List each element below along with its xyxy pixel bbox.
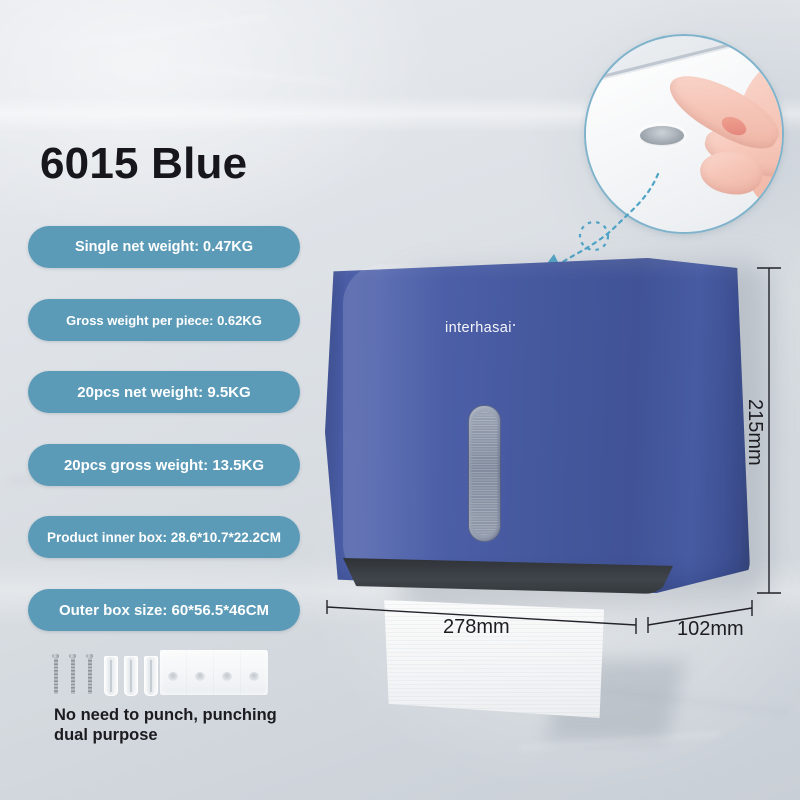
- marble-vein: [180, 66, 339, 85]
- marble-vein: [61, 15, 269, 46]
- paper-level-window: [468, 405, 501, 542]
- dispenser-body: [325, 258, 750, 593]
- dimension-label-width: 278mm: [443, 616, 510, 639]
- product-image-canvas: 6015 Blue Single net weight: 0.47KG Gros…: [0, 0, 800, 800]
- adhesive-pad-icon: [214, 650, 240, 695]
- mounting-hardware-group: [52, 648, 267, 696]
- dimension-label-height: 215mm: [743, 399, 766, 466]
- wall-anchor-icon: [144, 656, 158, 696]
- spec-pill-label: 20pcs gross weight: 13.5KG: [64, 457, 264, 474]
- spec-pill-gross-weight-per-piece: Gross weight per piece: 0.62KG: [28, 299, 300, 341]
- brand-logo: interhasai: [445, 320, 515, 336]
- wall-anchor-icon: [124, 656, 138, 696]
- spec-pill-single-net-weight: Single net weight: 0.47KG: [28, 226, 300, 268]
- adhesive-pad-icon: [241, 650, 267, 695]
- screw-icon: [52, 654, 59, 694]
- adhesive-pad-strip: [160, 650, 268, 695]
- spec-pill-label: Product inner box: 28.6*10.7*22.2CM: [47, 530, 281, 545]
- mounting-caption: No need to punch, punching dual purpose: [54, 705, 304, 745]
- spec-pill-label: Gross weight per piece: 0.62KG: [66, 313, 262, 328]
- spec-pill-20pcs-net-weight: 20pcs net weight: 9.5KG: [28, 371, 300, 413]
- spec-pill-20pcs-gross-weight: 20pcs gross weight: 13.5KG: [28, 444, 300, 486]
- wall-anchor-icon: [104, 656, 118, 696]
- spec-pill-label: Outer box size: 60*56.5*46CM: [59, 602, 269, 619]
- adhesive-pad-icon: [160, 650, 186, 695]
- spec-pill-outer-box-size: Outer box size: 60*56.5*46CM: [28, 589, 300, 631]
- adhesive-pad-icon: [187, 650, 213, 695]
- lock-button-icon: [640, 126, 684, 145]
- spec-pill-label: Single net weight: 0.47KG: [75, 239, 253, 255]
- dimension-label-depth: 102mm: [677, 618, 744, 641]
- page-title: 6015 Blue: [40, 139, 247, 189]
- spec-pill-product-inner-box: Product inner box: 28.6*10.7*22.2CM: [28, 516, 300, 558]
- screw-icon: [69, 654, 76, 694]
- paper-towel-dispenser: interhasai: [325, 258, 750, 593]
- screw-icon: [86, 654, 93, 694]
- spec-pill-label: 20pcs net weight: 9.5KG: [77, 384, 250, 401]
